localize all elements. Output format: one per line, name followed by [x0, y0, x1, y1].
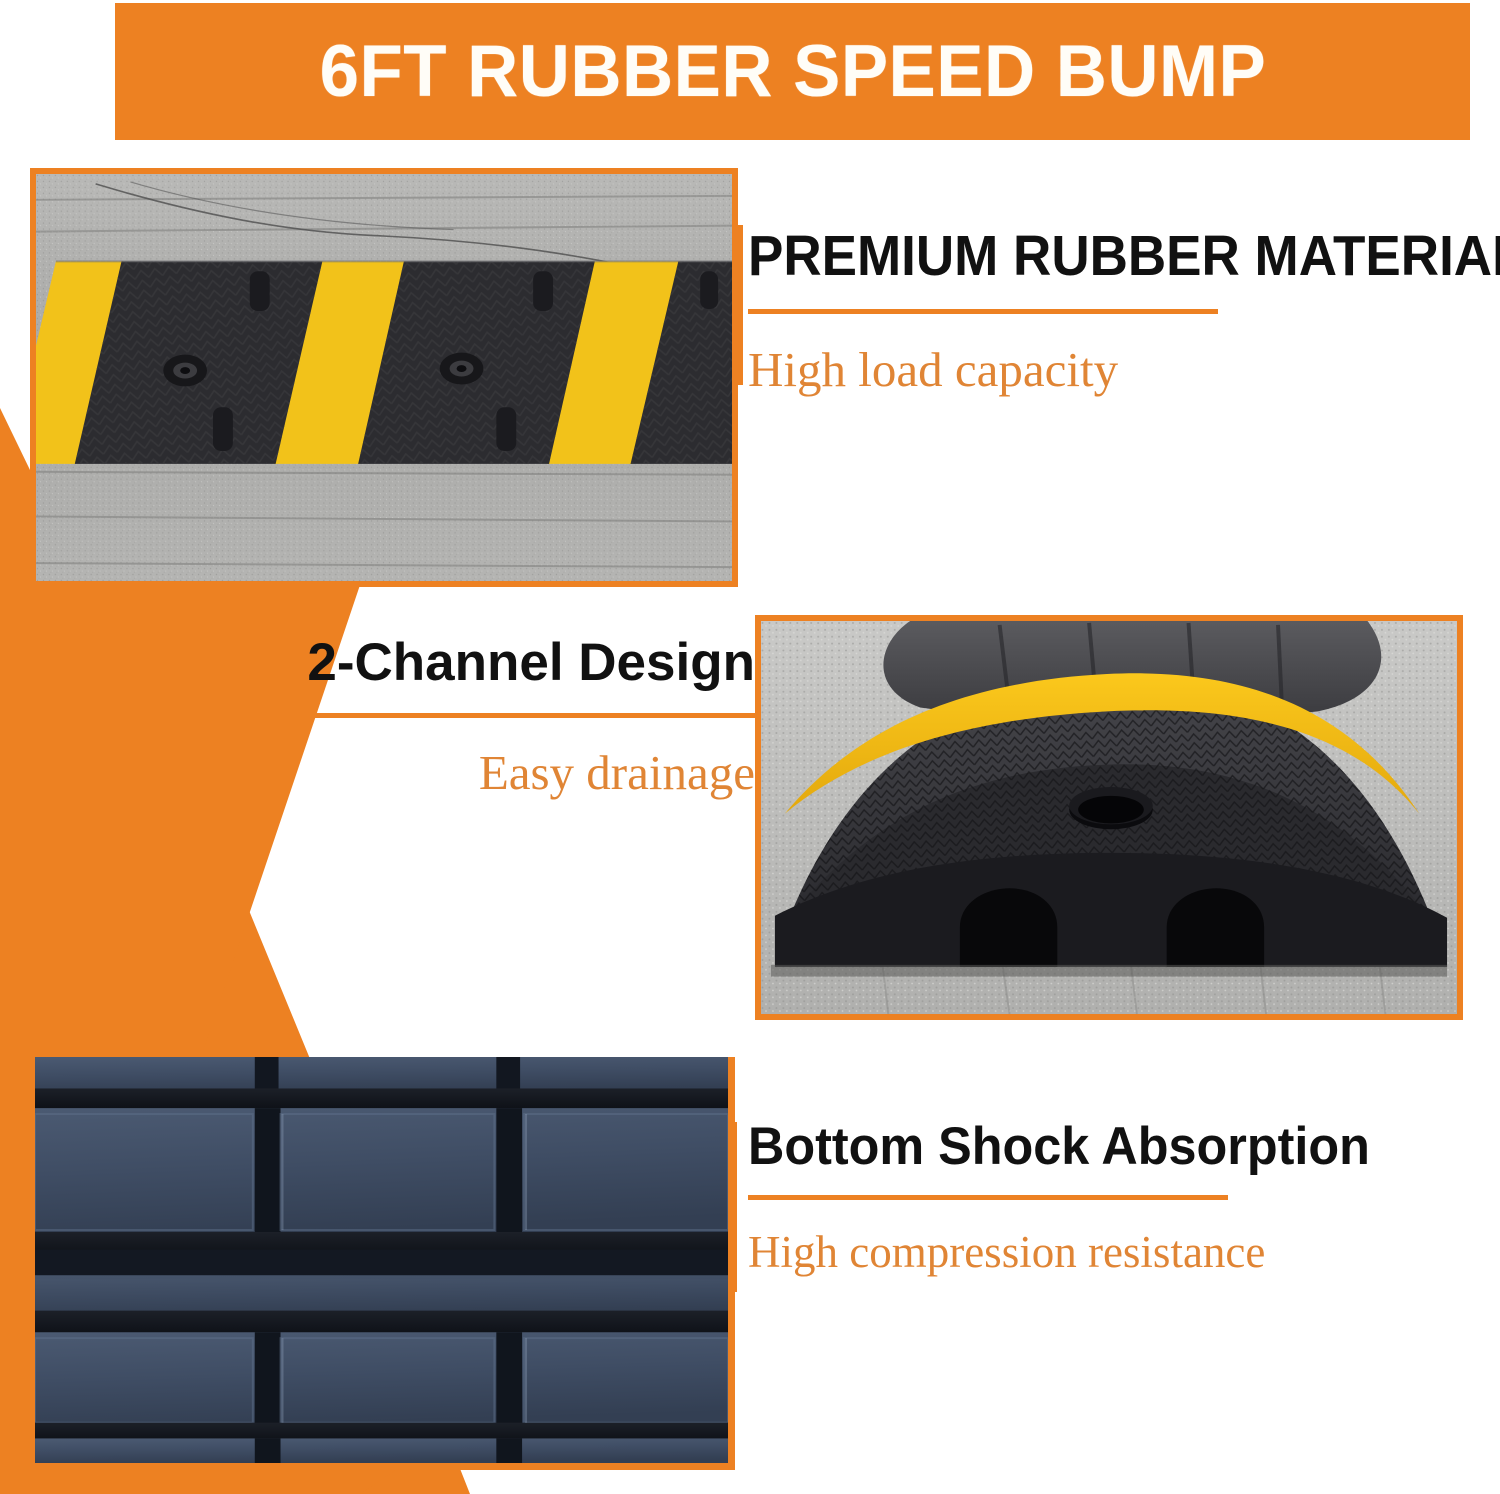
infographic-canvas: 6FT RUBBER SPEED BUMP [0, 0, 1500, 1494]
page-title: 6FT RUBBER SPEED BUMP [319, 30, 1266, 113]
connector-rule-feature-1 [738, 225, 743, 385]
title-banner: 6FT RUBBER SPEED BUMP [115, 3, 1470, 140]
feature-subheading-3: High compression resistance [748, 1230, 1403, 1275]
speed-bump-channel-closeup-illustration [761, 621, 1457, 1014]
feature-underline-2 [305, 713, 755, 718]
photo-bottom-shock-absorption [35, 1057, 735, 1470]
feature-subheading-2: Easy drainage [305, 748, 755, 797]
connector-rule-feature-3 [732, 1122, 737, 1292]
feature-heading-1: PREMIUM RUBBER MATERIAL [748, 228, 1500, 285]
feature-subheading-1: High load capacity [748, 345, 1500, 394]
feature-block-two-channel-design: 2-Channel Design Easy drainage [305, 636, 755, 797]
photo-two-channel-design [755, 615, 1463, 1020]
feature-block-bottom-shock-absorption: Bottom Shock Absorption High compression… [748, 1120, 1403, 1275]
feature-underline-3 [748, 1195, 1228, 1200]
underside-honeycomb-rib-illustration [35, 1057, 728, 1463]
speed-bump-road-illustration [36, 174, 732, 581]
feature-block-premium-rubber-material: PREMIUM RUBBER MATERIAL High load capaci… [748, 228, 1500, 394]
feature-heading-3: Bottom Shock Absorption [748, 1120, 1370, 1173]
feature-underline-1 [748, 309, 1218, 314]
feature-heading-2: 2-Channel Design [305, 636, 755, 689]
photo-premium-rubber-material [30, 168, 738, 587]
